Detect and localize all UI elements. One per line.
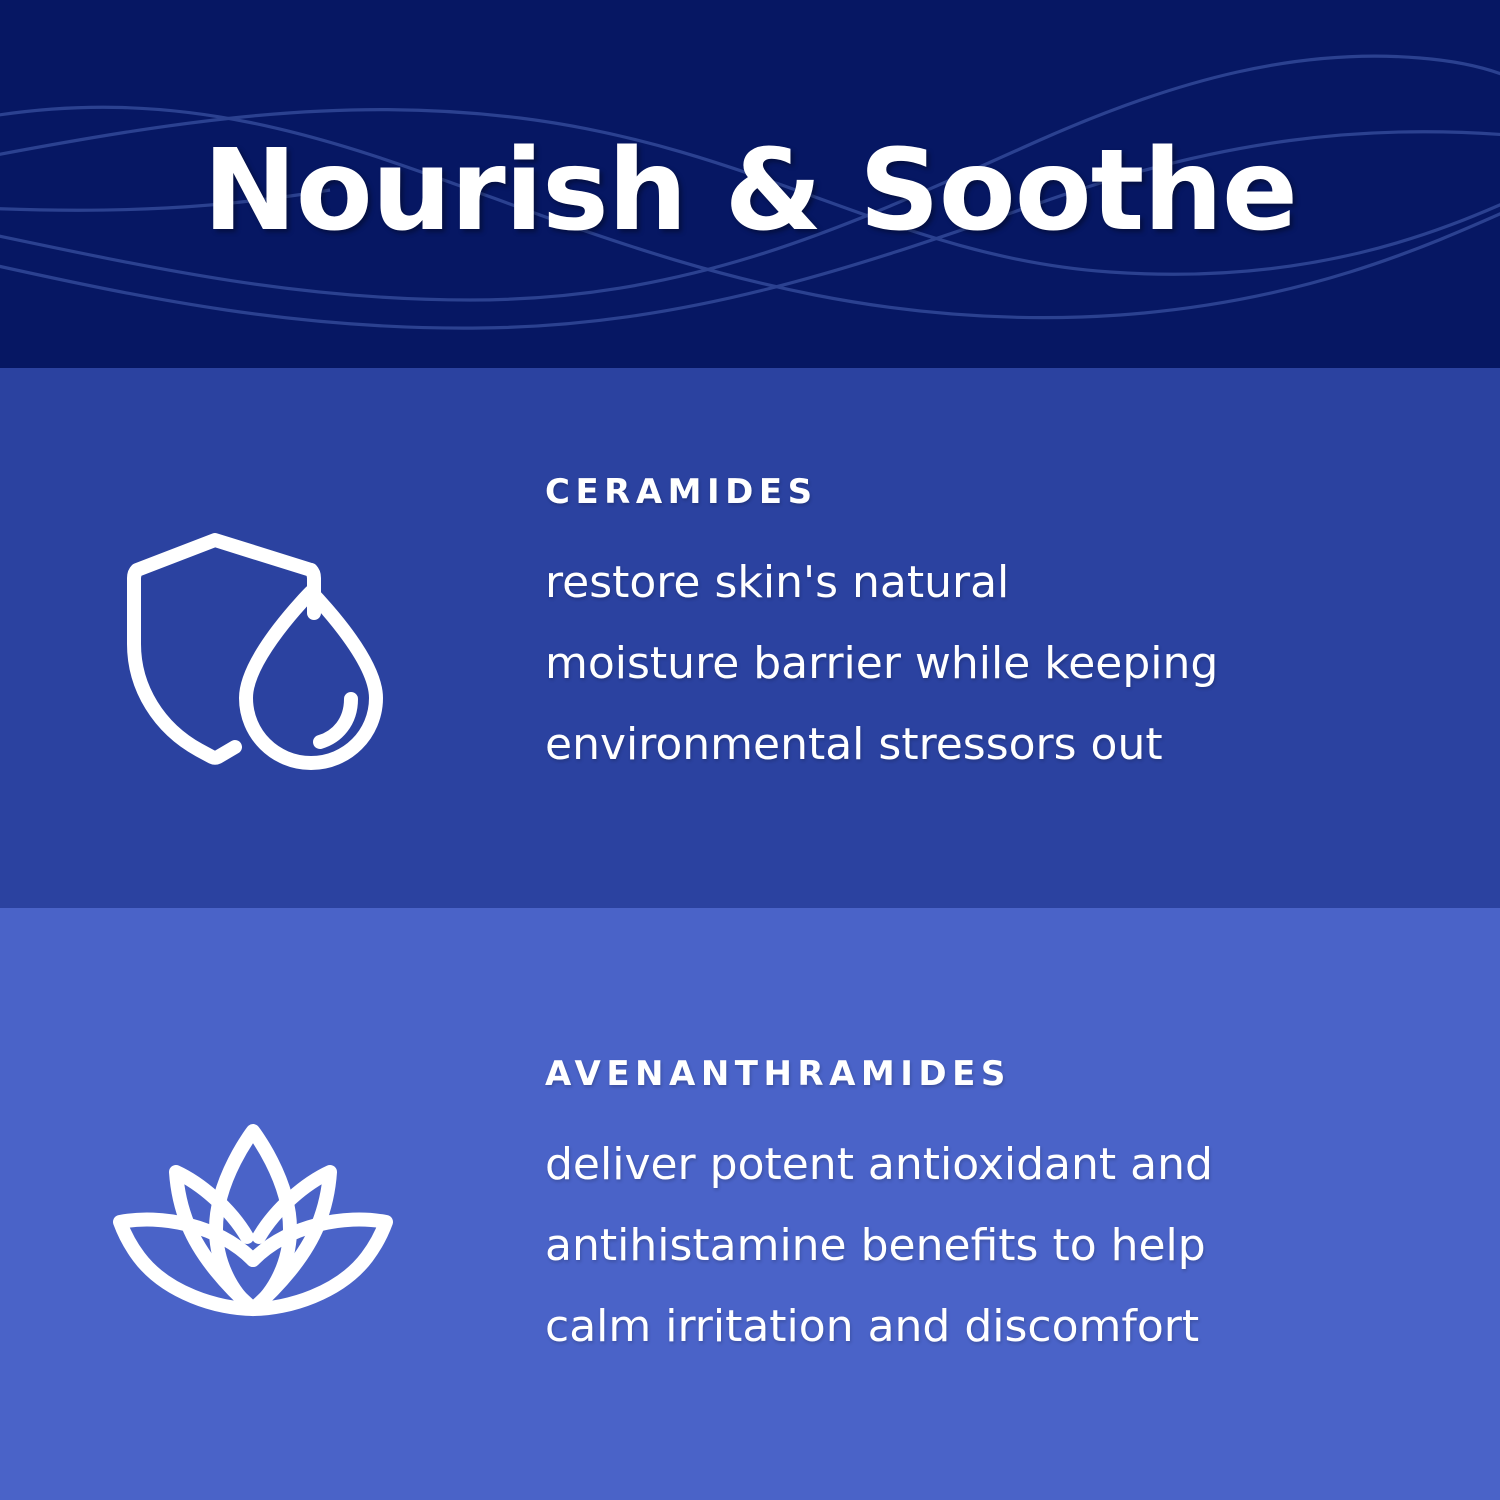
feature-text-container-2: AVENANTHRAMIDES deliver potent antioxida… — [545, 1056, 1500, 1368]
feature-description-ceramides: restore skin's natural moisture barrier … — [545, 542, 1410, 786]
feature-label-avenanthramides: AVENANTHRAMIDES — [545, 1056, 1410, 1093]
product-benefits-poster: Nourish & Soothe CERAMIDES restore skin'… — [0, 0, 1500, 1500]
shield-droplet-icon — [115, 516, 415, 776]
feature-row-ceramides: CERAMIDES restore skin's natural moistur… — [0, 368, 1500, 908]
description-line: restore skin's natural — [545, 542, 1410, 623]
header-banner: Nourish & Soothe — [0, 0, 1500, 368]
feature-label-ceramides: CERAMIDES — [545, 474, 1410, 511]
page-title: Nourish & Soothe — [0, 0, 1500, 368]
description-line: deliver potent antioxidant and — [545, 1124, 1410, 1205]
feature-row-avenanthramides: AVENANTHRAMIDES deliver potent antioxida… — [0, 908, 1500, 1500]
lotus-flower-icon — [98, 1117, 408, 1327]
feature-icon-container-1 — [0, 516, 537, 776]
description-line: calm irritation and discomfort — [545, 1286, 1410, 1367]
description-line: antihistamine benefits to help — [545, 1205, 1410, 1286]
description-line: moisture barrier while keeping — [545, 623, 1410, 704]
description-line: environmental stressors out — [545, 704, 1410, 785]
feature-text-container-1: CERAMIDES restore skin's natural moistur… — [545, 474, 1500, 786]
feature-icon-container-2 — [0, 1117, 525, 1327]
feature-description-avenanthramides: deliver potent antioxidant and antihista… — [545, 1124, 1410, 1368]
